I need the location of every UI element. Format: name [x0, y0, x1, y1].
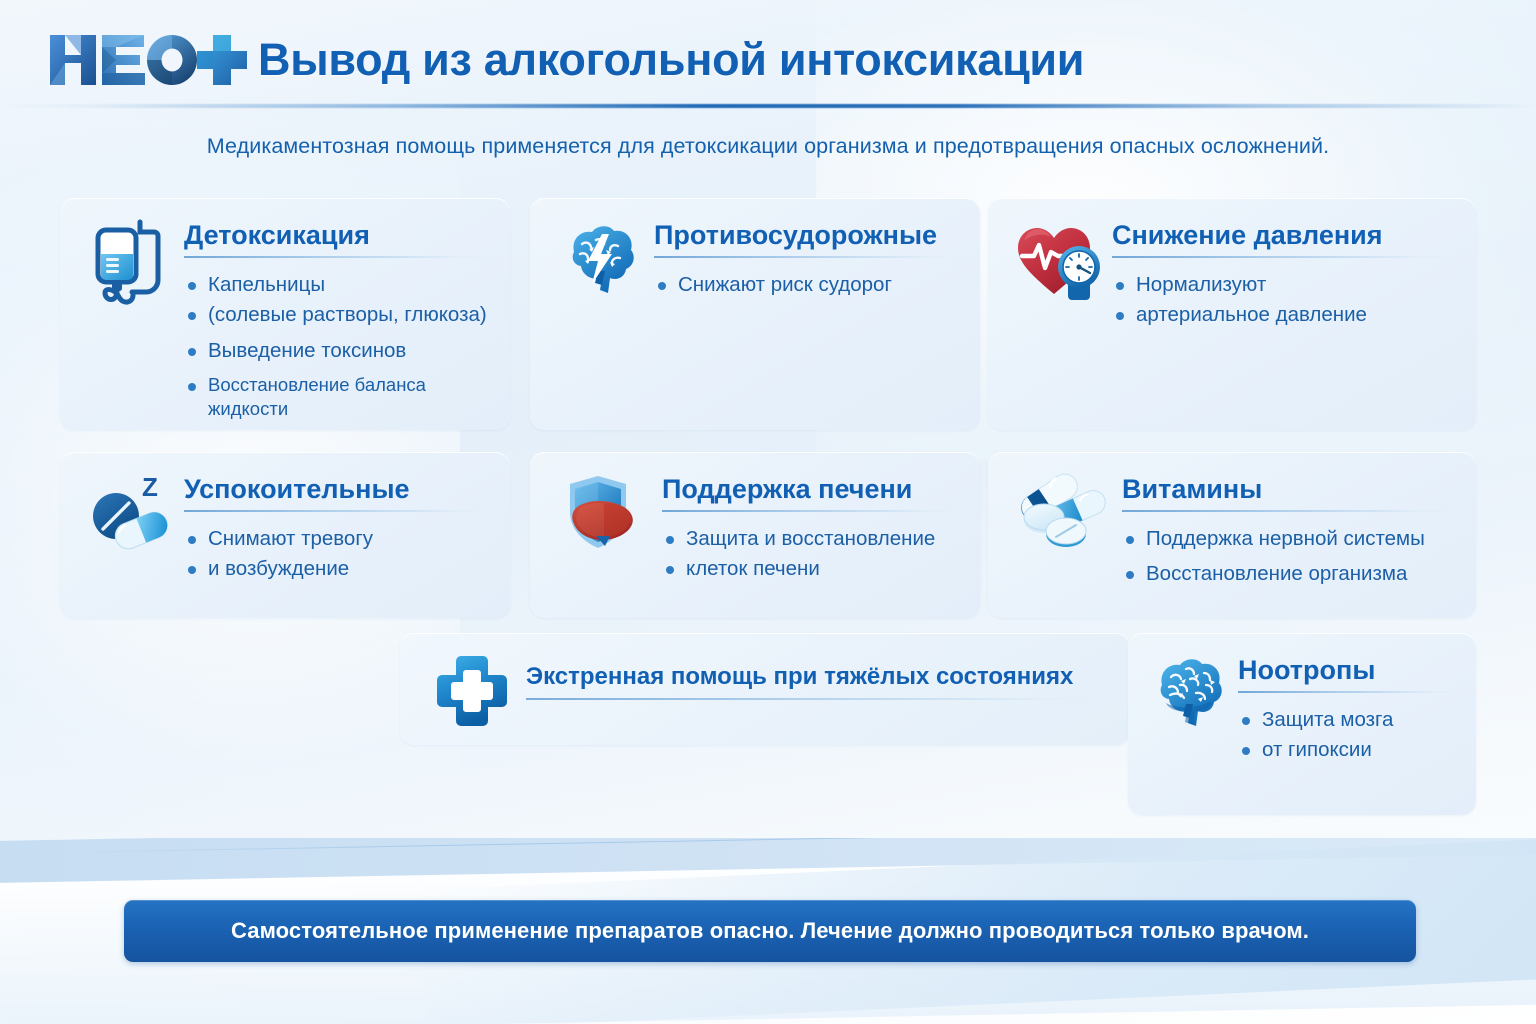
list-item: Защита и восстановление	[662, 526, 964, 552]
card-title: Витамины	[1122, 474, 1460, 504]
card-body: Поддержка печени Защита и восстановление…	[662, 474, 964, 592]
bullet-list: Защита и восстановление клеток печени	[662, 526, 964, 582]
title-underline	[184, 510, 494, 512]
list-item: Восстановление баланса жидкости	[184, 373, 494, 420]
card-vitamins[interactable]: Витамины Поддержка нервной системы Восст…	[988, 452, 1476, 618]
card-body: Ноотропы Защита мозга от гипоксии	[1238, 655, 1462, 773]
infographic-poster: Вывод из алкогольной интоксикации Медика…	[0, 0, 1536, 1024]
title-underline	[1112, 256, 1460, 258]
card-body: Успокоительные Снимают тревогу и возбужд…	[184, 474, 494, 592]
bullet-list: Снимают тревогу и возбуждение	[184, 526, 494, 582]
emergency-body: Экстренная помощь при тяжёлых состояниях	[526, 663, 1102, 700]
brain-lightning-icon	[552, 216, 648, 312]
shield-liver-icon	[552, 472, 648, 568]
card-title: Противосудорожные	[654, 220, 964, 250]
card-body: Снижение давления Нормализуют артериальн…	[1112, 220, 1460, 338]
header-divider	[0, 104, 1536, 108]
title-underline	[1238, 691, 1462, 693]
card-liver-support[interactable]: Поддержка печени Защита и восстановление…	[530, 452, 980, 618]
svg-text:Z: Z	[142, 474, 158, 502]
list-item-continuation: от гипоксии	[1238, 737, 1462, 763]
pills-capsules-icon	[1010, 468, 1106, 564]
list-item: Защита мозга	[1238, 707, 1462, 733]
card-title: Снижение давления	[1112, 220, 1460, 250]
band-hairline	[60, 838, 1520, 853]
list-item-continuation: артериальное давление	[1112, 302, 1460, 328]
bullet-list: Защита мозга от гипоксии	[1238, 707, 1462, 763]
card-title: Детоксикация	[184, 220, 494, 250]
brand-logo	[48, 29, 248, 91]
card-detox[interactable]: Детоксикация Капельницы (солевые раствор…	[60, 198, 510, 430]
list-item: Восстановление организма	[1122, 561, 1460, 587]
emergency-help-banner[interactable]: Экстренная помощь при тяжёлых состояниях	[400, 633, 1130, 745]
list-item: Выведение токсинов	[184, 338, 494, 364]
page-title: Вывод из алкогольной интоксикации	[258, 34, 1084, 86]
card-title: Поддержка печени	[662, 474, 964, 504]
list-item: Капельницы	[184, 272, 494, 298]
band-upper	[0, 838, 1536, 886]
neo-plus-logo-icon	[48, 29, 248, 91]
card-body: Противосудорожные Снижают риск судорог	[654, 220, 964, 307]
card-body: Детоксикация Капельницы (солевые раствор…	[184, 220, 494, 429]
bullet-list: Снижают риск судорог	[654, 272, 964, 298]
warning-banner[interactable]: Самостоятельное применение препаратов оп…	[124, 900, 1416, 962]
page-subtitle: Медикаментозная помощь применяется для д…	[0, 134, 1536, 159]
card-title: Успокоительные	[184, 474, 494, 504]
card-body: Витамины Поддержка нервной системы Восст…	[1122, 474, 1460, 597]
emergency-label: Экстренная помощь при тяжёлых состояниях	[526, 663, 1102, 691]
bullet-list: Капельницы (солевые растворы, глюкоза) В…	[184, 272, 494, 420]
card-sedatives[interactable]: Z Успокоительные Снимают тревогу и возбу…	[60, 452, 510, 618]
bullet-list: Нормализуют артериальное давление	[1112, 272, 1460, 328]
medical-cross-icon	[434, 653, 510, 729]
list-item: Снижают риск судорог	[654, 272, 964, 298]
pill-sleep-icon: Z	[82, 474, 178, 570]
brain-icon	[1146, 651, 1232, 737]
list-item-continuation: клеток печени	[662, 556, 964, 582]
list-item-continuation: и возбуждение	[184, 556, 494, 582]
header: Вывод из алкогольной интоксикации	[0, 0, 1536, 110]
card-nootropics[interactable]: Ноотропы Защита мозга от гипоксии	[1128, 633, 1476, 815]
title-underline	[654, 256, 964, 258]
list-item: Нормализуют	[1112, 272, 1460, 298]
list-item-continuation: (солевые растворы, глюкоза)	[184, 302, 494, 328]
title-underline	[184, 256, 494, 258]
warning-text: Самостоятельное применение препаратов оп…	[231, 918, 1309, 944]
iv-drip-icon	[82, 216, 178, 312]
card-anticonvulsants[interactable]: Противосудорожные Снижают риск судорог	[530, 198, 980, 430]
bullet-list: Поддержка нервной системы Восстановление…	[1122, 526, 1460, 587]
heart-pressure-gauge-icon	[1010, 216, 1106, 312]
card-blood-pressure[interactable]: Снижение давления Нормализуют артериальн…	[988, 198, 1476, 430]
card-title: Ноотропы	[1238, 655, 1462, 685]
list-item: Поддержка нервной системы	[1122, 526, 1460, 552]
list-item: Снимают тревогу	[184, 526, 494, 552]
title-underline	[662, 510, 964, 512]
title-underline	[1122, 510, 1460, 512]
emergency-underline	[526, 698, 1102, 700]
